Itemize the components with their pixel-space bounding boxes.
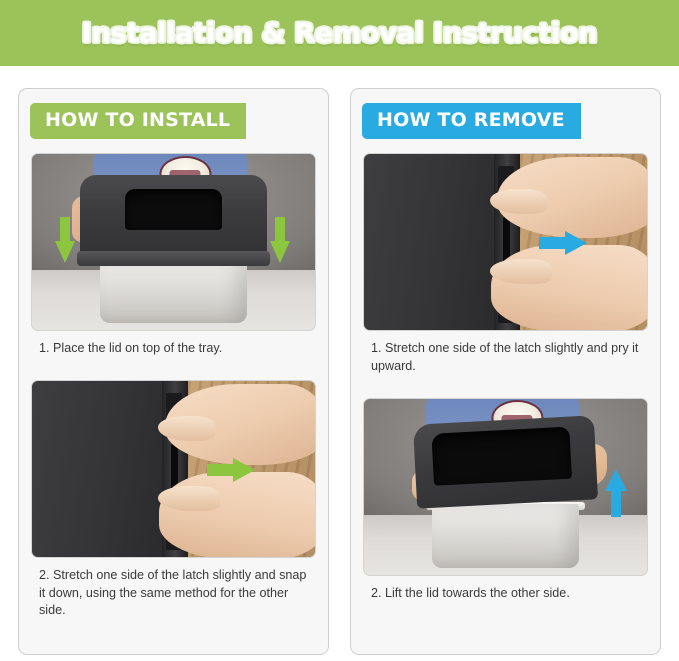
right-arrow-blue [539, 231, 587, 255]
lid-side-panel [364, 154, 503, 330]
lower-thumb [158, 486, 220, 511]
install-step-1-caption: 1. Place the lid on top of the tray. [39, 340, 314, 358]
lower-thumb [490, 259, 552, 284]
lower-hand [159, 472, 316, 557]
steel-tray [100, 259, 247, 322]
up-arrow-blue [605, 469, 627, 517]
page-header: Installation & Removal Instruction [0, 0, 679, 66]
scene-lift-lid [364, 399, 647, 575]
remove-card: HOW TO REMOVE [350, 88, 661, 655]
install-step-2: 2. Stretch one side of the latch slightl… [31, 380, 316, 621]
install-card: HOW TO INSTALL [18, 88, 329, 655]
remove-step-1-caption: 1. Stretch one side of the latch slightl… [371, 340, 646, 376]
scene-latch-close-up [32, 381, 315, 557]
remove-step-2-caption: 2. Lift the lid towards the other side. [371, 585, 646, 603]
black-lid-tilted [413, 415, 598, 509]
lid-cavity [431, 426, 571, 485]
steel-tray [432, 504, 579, 567]
lid-side-panel [32, 381, 171, 557]
install-banner: HOW TO INSTALL [30, 103, 246, 139]
remove-step-2: 2. Lift the lid towards the other side. [363, 398, 648, 603]
lower-hand [491, 245, 648, 330]
photo-lifting-lid [363, 398, 648, 576]
photo-lid-over-tray [31, 153, 316, 331]
lid-cavity [125, 189, 222, 229]
scene-lid-over-tray [32, 154, 315, 330]
upper-thumb [158, 416, 215, 441]
photo-hands-stretching-latch [31, 380, 316, 558]
scene-latch-close-up-remove [364, 154, 647, 330]
remove-steps: 1. Stretch one side of the latch slightl… [351, 153, 660, 603]
remove-step-1: 1. Stretch one side of the latch slightl… [363, 153, 648, 376]
install-step-2-caption: 2. Stretch one side of the latch slightl… [39, 567, 314, 621]
right-arrow-green [207, 458, 255, 482]
install-step-1: 1. Place the lid on top of the tray. [31, 153, 316, 358]
instruction-panels: HOW TO INSTALL [0, 66, 679, 661]
down-arrow-green-right [270, 217, 290, 263]
remove-banner: HOW TO REMOVE [362, 103, 581, 139]
photo-hands-prying-latch [363, 153, 648, 331]
black-lid [80, 175, 267, 263]
lid-rim [77, 251, 269, 267]
install-steps: 1. Place the lid on top of the tray. [19, 153, 328, 621]
down-arrow-green-left [55, 217, 75, 263]
upper-thumb [490, 189, 547, 214]
page-title: Installation & Removal Instruction [82, 18, 598, 49]
